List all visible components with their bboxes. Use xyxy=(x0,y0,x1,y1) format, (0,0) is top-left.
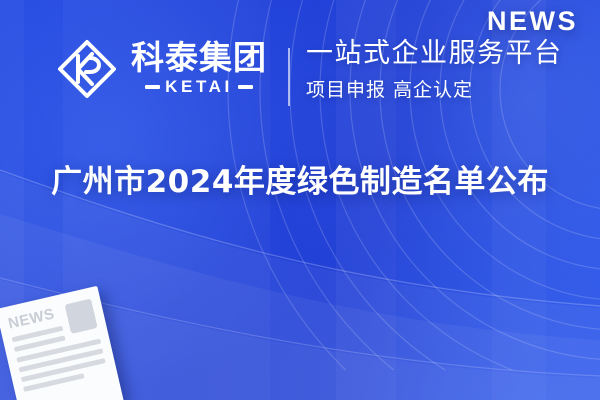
page-title: 广州市2024年度绿色制造名单公布 xyxy=(0,156,600,201)
newspaper-icon: NEWS xyxy=(0,286,124,400)
brand-name-cn: 科泰集团 xyxy=(131,41,267,76)
slogan-main: 一站式企业服务平台 xyxy=(306,38,563,71)
news-badge: NEWS xyxy=(487,6,578,37)
brand-name-en-row: KETAI xyxy=(131,77,267,97)
newspaper-thumbnail xyxy=(65,299,98,334)
ketai-diamond-kp-logo-icon xyxy=(56,38,118,100)
brand-logo[interactable]: 科泰集团 KETAI xyxy=(56,38,267,100)
dash-left-icon xyxy=(145,85,160,89)
vertical-divider xyxy=(288,48,290,106)
brand-name-en: KETAI xyxy=(165,77,233,97)
slogan-sub: 项目申报 高企认定 xyxy=(306,75,563,102)
slogan: 一站式企业服务平台 项目申报 高企认定 xyxy=(306,38,563,102)
news-banner: NEWS 科泰集团 KETAI 一站式企业服务平台 项目申报 高企认定 广州市2… xyxy=(0,0,600,400)
dash-right-icon xyxy=(238,85,253,89)
brand-wordmark: 科泰集团 KETAI xyxy=(131,41,267,97)
